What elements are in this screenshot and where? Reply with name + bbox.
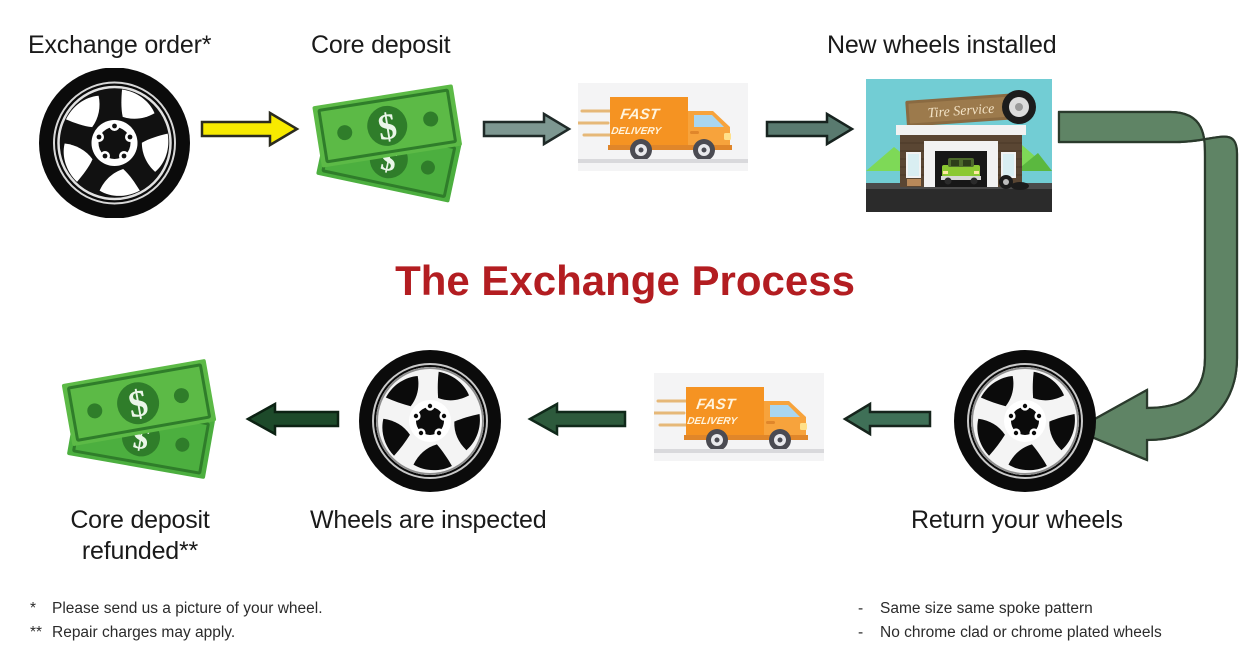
fast-delivery-truck-icon-top: FAST DELIVERY [578,83,748,171]
arrow-left-dark-green-1 [842,400,932,443]
arrow-left-dark-green-3 [245,400,340,443]
money-icon: $ $ [308,76,478,209]
footnote-right-1: -Same size same spoke pattern [858,596,1093,621]
label-new-wheels-installed: New wheels installed [827,30,1056,61]
svg-text:DELIVERY: DELIVERY [610,126,663,137]
arrow-right-grey-green-1 [482,110,572,153]
footnote-left-1-marker: * [30,596,52,621]
footnote-right-1-text: Same size same spoke pattern [880,600,1093,617]
label-wheels-are-inspected: Wheels are inspected [310,505,546,536]
label-core-deposit-refunded-line1: Core deposit [70,506,209,534]
footnote-left-2-marker: ** [30,620,52,645]
footnote-left-1: *Please send us a picture of your wheel. [30,596,323,621]
arrow-right-grey-green-2 [765,110,855,153]
footnote-left-2-text: Repair charges may apply. [52,624,235,641]
wheel-black-icon [37,68,192,218]
wheel-chrome-icon-return [951,349,1099,493]
exchange-process-diagram: The Exchange Process Exchange order* Cor… [0,0,1250,666]
footnote-right-2: -No chrome clad or chrome plated wheels [858,620,1162,645]
svg-text:FAST: FAST [695,396,737,413]
footnote-right-2-marker: - [858,620,880,645]
svg-text:DELIVERY: DELIVERY [686,416,739,427]
footnote-right-1-marker: - [858,596,880,621]
arrow-left-dark-green-2 [527,400,627,443]
label-core-deposit-refunded: Core deposit refunded** [30,505,250,567]
label-core-deposit: Core deposit [311,30,450,61]
footnote-left-1-text: Please send us a picture of your wheel. [52,600,323,617]
label-exchange-order: Exchange order* [28,30,211,61]
label-core-deposit-refunded-line2: refunded** [82,537,198,565]
fast-delivery-truck-icon-bottom: FAST DELIVERY [654,373,824,461]
arrow-right-yellow [200,110,300,153]
footnote-right-2-text: No chrome clad or chrome plated wheels [880,624,1162,641]
svg-text:FAST: FAST [619,106,661,123]
label-return-your-wheels: Return your wheels [911,505,1123,536]
footnote-left-2: **Repair charges may apply. [30,620,235,645]
tire-service-shop-icon: Tire Service [866,79,1052,212]
wheel-chrome-icon-inspected [356,349,504,493]
money-icon-refund: $ $ [58,352,233,487]
